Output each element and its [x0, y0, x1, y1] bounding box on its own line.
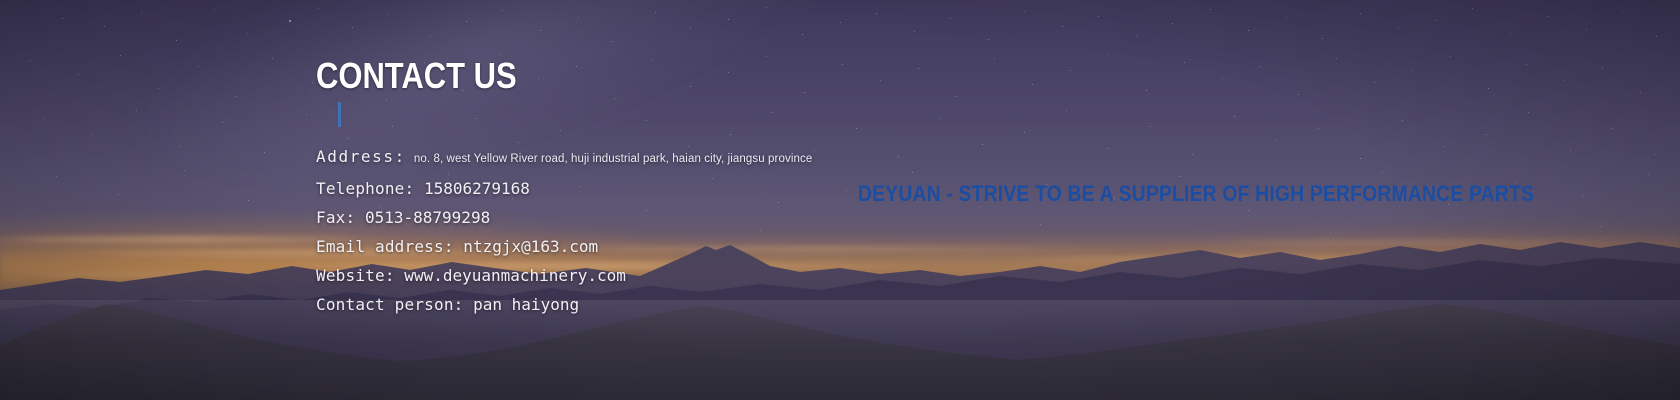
contact-label: Telephone:: [316, 179, 414, 198]
contact-label: Contact person:: [316, 295, 464, 314]
contact-line-email: Email address: ntzgjx@163.com: [316, 232, 812, 261]
contact-line-website: Website: www.deyuanmachinery.com: [316, 261, 812, 290]
contact-label: Address:: [316, 147, 406, 166]
contact-value: no. 8, west Yellow River road, huji indu…: [414, 153, 812, 165]
contact-info-list: Address:no. 8, west Yellow River road, h…: [316, 142, 812, 319]
contact-line-person: Contact person: pan haiyong: [316, 290, 812, 319]
banner-content: CONTACT US Address:no. 8, west Yellow Ri…: [0, 0, 1680, 400]
contact-value[interactable]: ntzgjx@163.com: [454, 237, 599, 256]
contact-value[interactable]: www.deyuanmachinery.com: [395, 266, 626, 285]
contact-label: Website:: [316, 266, 395, 285]
contact-label: Email address:: [316, 237, 454, 256]
contact-value: 0513-88799298: [355, 208, 490, 227]
contact-banner: CONTACT US Address:no. 8, west Yellow Ri…: [0, 0, 1680, 400]
company-tagline: DEYUAN - STRIVE TO BE A SUPPLIER OF HIGH…: [858, 183, 1534, 205]
page-title: CONTACT US: [316, 58, 517, 94]
title-accent-bar: [338, 102, 341, 127]
contact-line-phone: Telephone: 15806279168: [316, 174, 812, 203]
contact-value: 15806279168: [414, 179, 530, 198]
contact-value: pan haiyong: [464, 295, 580, 314]
contact-line-address: Address:no. 8, west Yellow River road, h…: [316, 142, 812, 174]
contact-label: Fax:: [316, 208, 355, 227]
contact-line-fax: Fax: 0513-88799298: [316, 203, 812, 232]
